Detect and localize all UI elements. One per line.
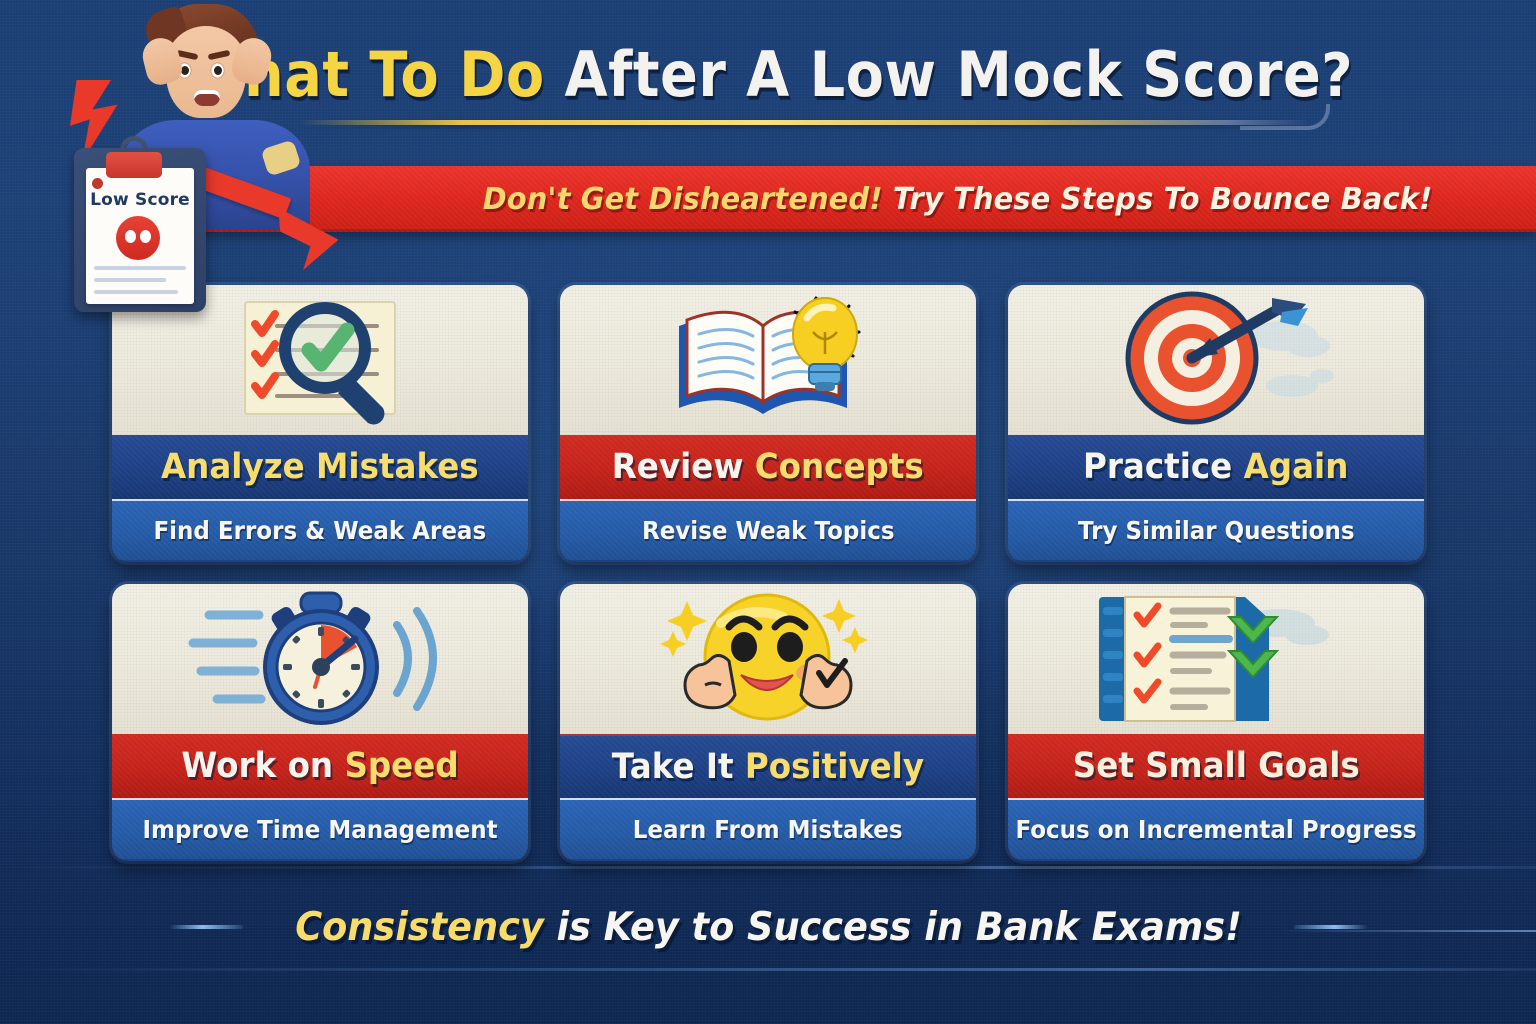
step-card-analyze-mistakes[interactable]: Analyze Mistakes Find Errors & Weak Area… xyxy=(112,285,528,562)
step-card-set-small-goals[interactable]: Set Small Goals Focus on Incremental Pro… xyxy=(1008,584,1424,861)
card-subtitle: Try Similar Questions xyxy=(1078,516,1355,545)
checklist-down-arrows-icon xyxy=(1008,584,1424,734)
card-subtitle: Learn From Mistakes xyxy=(633,815,903,844)
card-title-white: Practice xyxy=(1083,447,1244,487)
student-eye-right xyxy=(210,62,225,79)
card-title-white: Review xyxy=(612,447,755,487)
card-title-band: Set Small Goals xyxy=(1008,734,1424,800)
title-underline xyxy=(300,120,1310,125)
smiley-thumbs-up-icon xyxy=(560,584,976,734)
paper-line xyxy=(94,290,178,294)
student-mouth xyxy=(194,90,220,106)
footer-tagline: Consistency is Key to Success in Bank Ex… xyxy=(0,896,1536,958)
subtitle-main: Try These Steps To Bounce Back! xyxy=(893,182,1433,217)
footer-dash-right xyxy=(1294,925,1368,929)
title-underline-curve xyxy=(1240,104,1330,130)
step-card-take-it-positively[interactable]: Take It Positively Learn From Mistakes xyxy=(560,584,976,861)
subtitle-banner: Don't Get Disheartened! Try These Steps … xyxy=(170,166,1536,232)
footer-highlight: Consistency xyxy=(295,905,544,950)
steps-row-1: Analyze Mistakes Find Errors & Weak Area… xyxy=(112,285,1424,562)
card-title-band: Work on Speed xyxy=(112,734,528,800)
paper-line xyxy=(94,278,166,282)
infographic-canvas: What To Do After A Low Mock Score? Don't… xyxy=(0,0,1536,1024)
card-title-band: Analyze Mistakes xyxy=(112,435,528,501)
card-subtitle: Find Errors & Weak Areas xyxy=(154,516,487,545)
paper-line xyxy=(94,266,186,270)
card-title-yellow: Speed xyxy=(344,746,458,786)
subtitle-highlight: Don't Get Disheartened! xyxy=(483,182,883,217)
card-title-yellow: Positively xyxy=(745,747,924,787)
footer-dash-left xyxy=(169,925,243,929)
clipboard-label: Low Score xyxy=(90,190,190,210)
title-main: After A Low Mock Score xyxy=(565,38,1322,111)
step-card-work-on-speed[interactable]: Work on Speed Improve Time Management xyxy=(112,584,528,861)
card-subtitle: Improve Time Management xyxy=(142,815,497,844)
sad-face-icon xyxy=(116,216,160,260)
card-subtitle: Revise Weak Topics xyxy=(642,516,895,545)
card-subtitle-band: Try Similar Questions xyxy=(1008,501,1424,560)
card-title-white: Take It xyxy=(612,747,745,787)
card-title-band: Take It Positively xyxy=(560,734,976,800)
card-title-band: Review Concepts xyxy=(560,435,976,501)
steps-row-2: Work on Speed Improve Time Management xyxy=(112,584,1424,861)
student-pupil-right xyxy=(214,66,222,75)
card-title-yellow: Analyze Mistakes xyxy=(161,447,479,487)
card-subtitle-band: Focus on Incremental Progress xyxy=(1008,800,1424,859)
clipboard-clamp xyxy=(106,152,162,178)
card-title-white: Set Small Goals xyxy=(1073,746,1360,786)
stressed-student-illustration: Low Score xyxy=(28,0,358,324)
clipboard-punch-hole xyxy=(92,178,103,189)
card-title-band: Practice Again xyxy=(1008,435,1424,501)
card-title-yellow: Concepts xyxy=(755,447,924,487)
card-title-white: Work on xyxy=(181,746,344,786)
card-image-area xyxy=(1008,584,1424,734)
stopwatch-icon xyxy=(112,584,528,734)
footer-main: is Key to Success in Bank Exams! xyxy=(543,905,1241,950)
step-card-review-concepts[interactable]: Review Concepts Revise Weak Topics xyxy=(560,285,976,562)
card-subtitle-band: Learn From Mistakes xyxy=(560,800,976,859)
card-title-yellow: Again xyxy=(1244,447,1349,487)
student-head xyxy=(146,4,266,134)
bg-accent-line-bottom xyxy=(0,968,1536,971)
steps-grid: Analyze Mistakes Find Errors & Weak Area… xyxy=(112,285,1424,861)
sad-face-eye-right xyxy=(140,230,151,243)
card-image-area xyxy=(112,584,528,734)
open-book-lightbulb-icon xyxy=(560,285,976,435)
card-subtitle-band: Revise Weak Topics xyxy=(560,501,976,560)
card-subtitle: Focus on Incremental Progress xyxy=(1015,815,1416,844)
card-subtitle-band: Find Errors & Weak Areas xyxy=(112,501,528,560)
step-card-practice-again[interactable]: Practice Again Try Similar Questions xyxy=(1008,285,1424,562)
card-image-area xyxy=(1008,285,1424,435)
target-arrow-icon xyxy=(1008,285,1424,435)
sad-face-eye-left xyxy=(125,230,136,243)
card-subtitle-band: Improve Time Management xyxy=(112,800,528,859)
card-image-area xyxy=(560,584,976,734)
card-image-area xyxy=(560,285,976,435)
title-question-mark: ? xyxy=(1322,41,1354,111)
bg-accent-line-top xyxy=(0,866,1536,869)
arrow-head xyxy=(270,208,341,274)
